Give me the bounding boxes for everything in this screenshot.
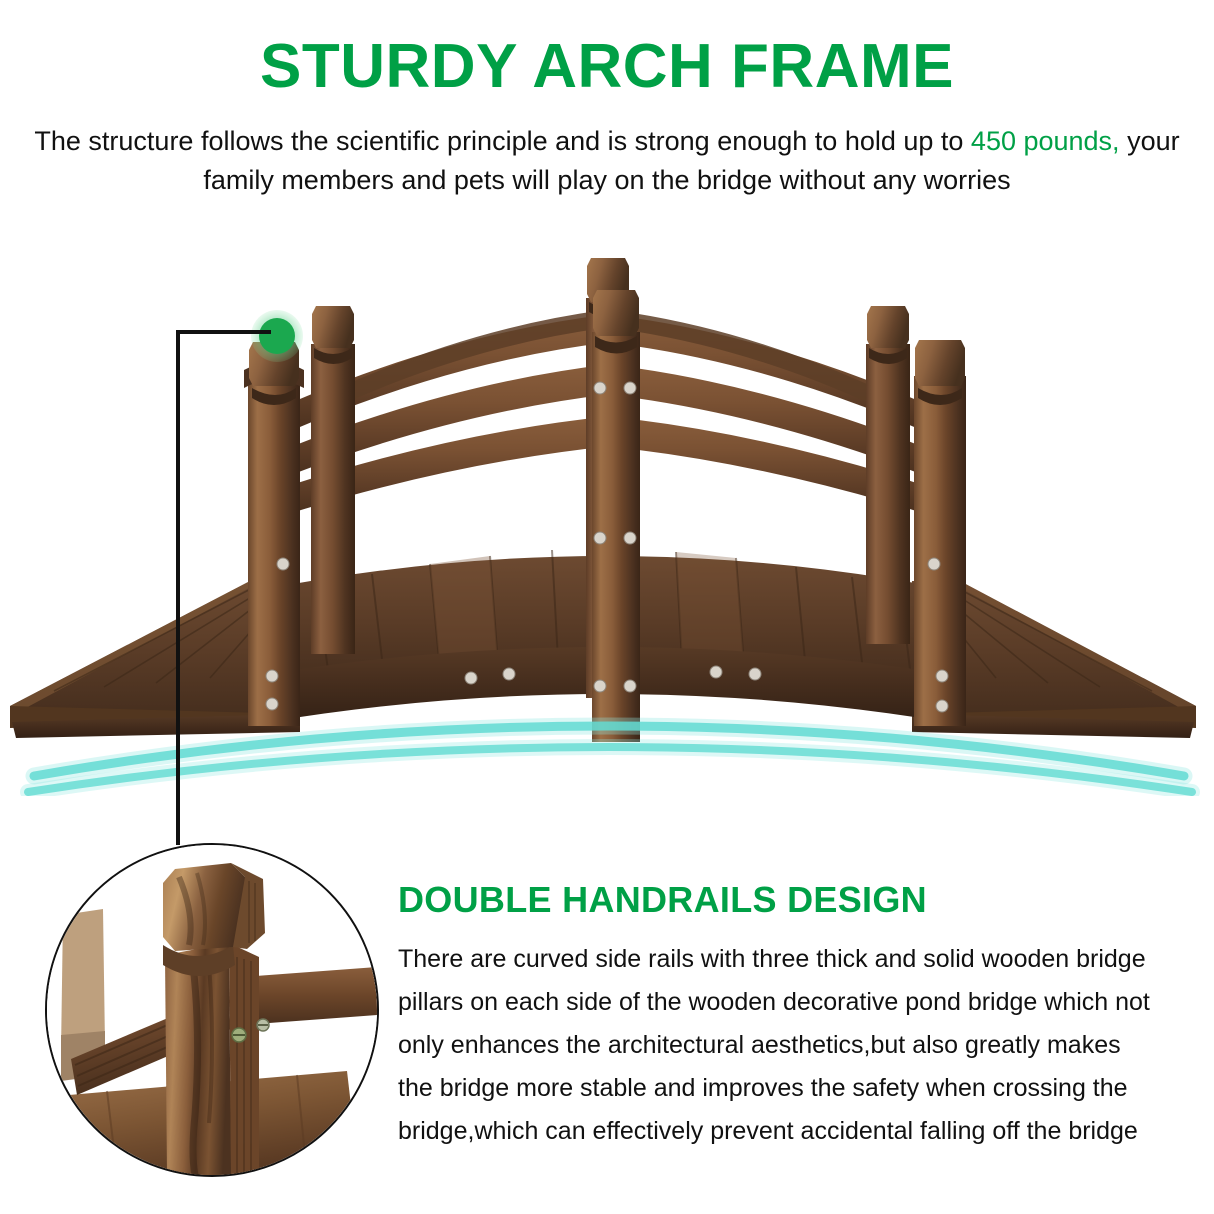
inset-handrail-right [243,967,377,1025]
callout-marker-dot [251,310,303,362]
subtitle-text-part1: The structure follows the scientific pri… [34,126,971,156]
subtitle-highlight: 450 pounds, [971,126,1120,156]
post-cap-closeup-illustration [47,845,377,1175]
section-body: There are curved side rails with three t… [398,938,1158,1153]
subtitle: The structure follows the scientific pri… [32,122,1182,200]
product-image-bridge [0,236,1214,796]
inset-post-cap [163,863,265,951]
post-center-front [592,290,640,742]
page-title: STURDY ARCH FRAME [0,34,1214,99]
bridge-illustration [0,236,1214,796]
post-left-back [311,306,355,654]
section-title: DOUBLE HANDRAILS DESIGN [398,880,1158,920]
infographic-page: STURDY ARCH FRAME The structure follows … [0,0,1214,1214]
post-right-back [866,306,910,644]
post-left-front [244,342,304,726]
detail-inset-circle [45,843,379,1177]
section-double-handrails: DOUBLE HANDRAILS DESIGN There are curved… [398,880,1158,1153]
inset-post-shaft [165,943,259,1175]
post-right-front [914,340,966,726]
